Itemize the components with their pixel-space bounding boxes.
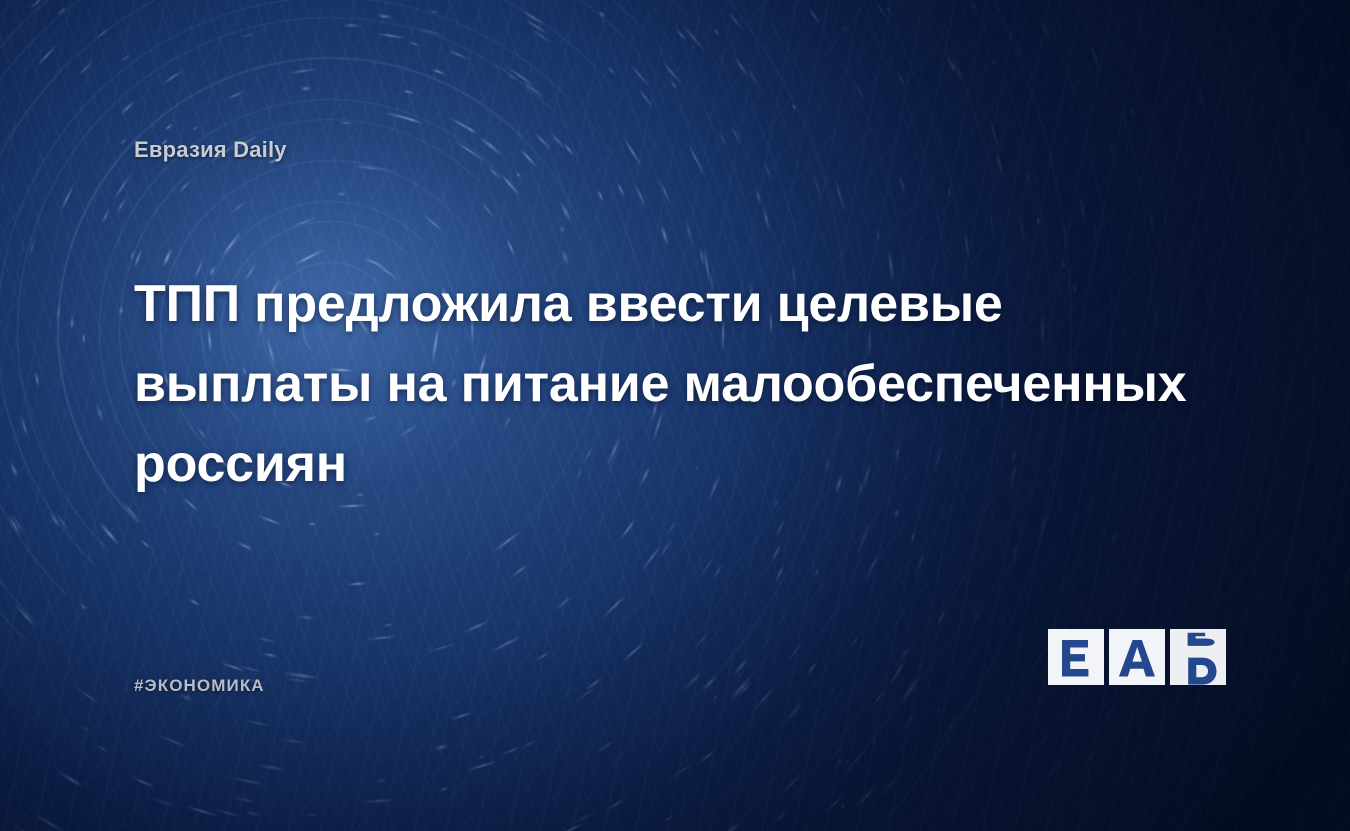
- logo-tile-e: [1048, 629, 1104, 685]
- page-title-line: ТПП предложила ввести целевые: [134, 275, 1003, 333]
- page-title-line: выплаты на питание малообеспеченных: [134, 355, 1186, 413]
- page-title-line: россиян: [134, 435, 347, 493]
- logo-tile-d: [1170, 629, 1226, 685]
- card-content: Евразия Daily ТПП предложила ввести целе…: [0, 0, 1350, 831]
- brand-name: Евразия Daily: [134, 137, 287, 163]
- eadaily-logo[interactable]: [1048, 629, 1226, 685]
- page-title: ТПП предложила ввести целевыевыплаты на …: [134, 264, 1244, 504]
- news-share-card: Евразия Daily ТПП предложила ввести целе…: [0, 0, 1350, 831]
- category-tag[interactable]: #ЭКОНОМИКА: [134, 676, 265, 696]
- logo-tile-a: [1109, 629, 1165, 685]
